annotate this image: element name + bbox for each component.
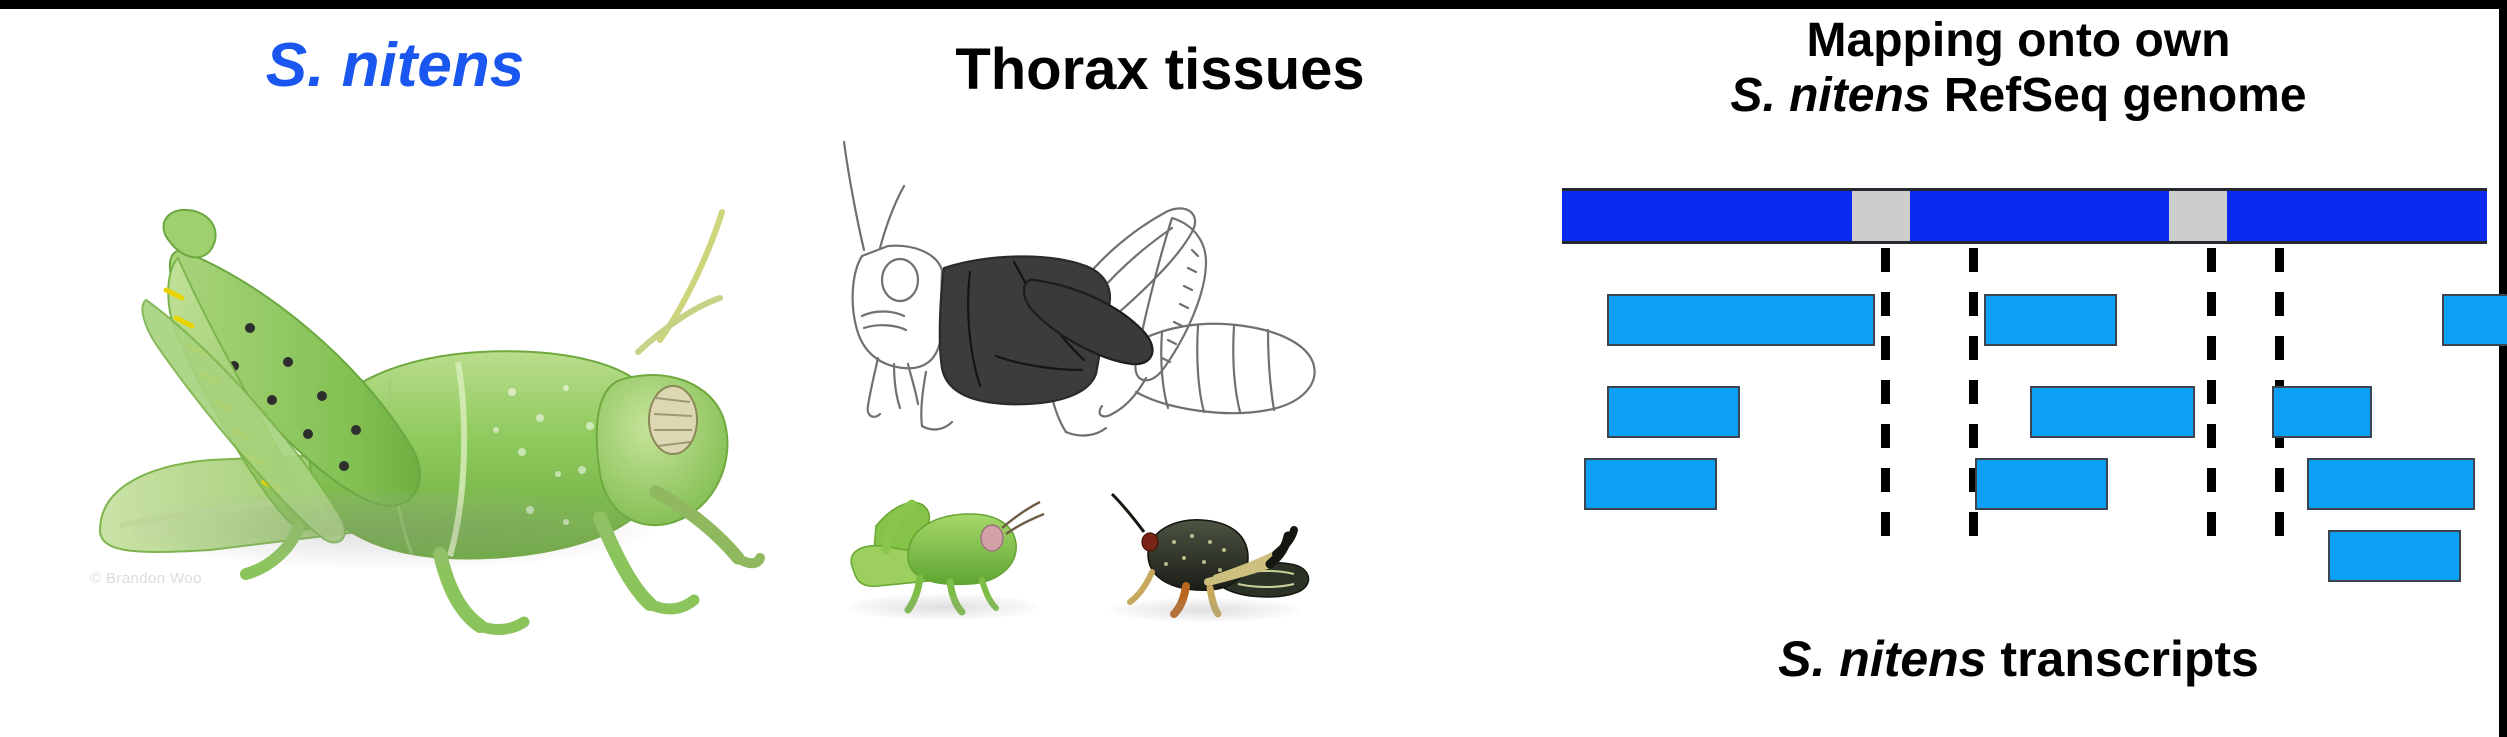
mapping-title: Mapping onto own S. nitens RefSeq genome [1530, 14, 2507, 123]
photo-shadow [130, 490, 650, 568]
tissues-title: Thorax tissues [790, 36, 1530, 103]
panel-thorax-tissues: Thorax tissues [790, 0, 1530, 737]
mapping-title-refseq: RefSeq genome [1944, 69, 2307, 122]
grasshopper-photo: © Brandon Woo [60, 130, 760, 630]
nymph-dark-photo [1090, 478, 1320, 638]
dashed-boundary-line-3 [2207, 248, 2216, 556]
photo-credit-watermark: © Brandon Woo [90, 570, 202, 587]
figure-root: S. nitens [0, 0, 2507, 737]
transcript-box-6 [2030, 386, 2195, 438]
transcript-box-2 [1607, 294, 1875, 346]
panel-mapping: Mapping onto own S. nitens RefSeq genome… [1530, 0, 2507, 737]
species-title: S. nitens [0, 30, 790, 101]
transcript-box-4 [2442, 294, 2507, 346]
transcript-box-10 [2307, 458, 2475, 510]
transcript-box-5 [1607, 386, 1740, 438]
transcripts-caption: S. nitens transcripts [1530, 630, 2507, 688]
genome-segment-gray-2 [1852, 188, 1910, 244]
transcript-box-3 [1984, 294, 2117, 346]
transcripts-caption-rest: transcripts [2000, 631, 2258, 687]
genome-segment-blue-5 [2227, 188, 2487, 244]
mapping-title-species: S. nitens [1730, 69, 1930, 122]
transcript-box-11 [2328, 530, 2461, 582]
genome-segment-blue-3 [1910, 188, 2169, 244]
mapping-title-line1: Mapping onto own [1807, 14, 2231, 67]
nymph-dark-shadow [1110, 598, 1300, 622]
panel-species: S. nitens [0, 0, 790, 737]
genome-reference-track [1562, 188, 2487, 244]
transcript-box-7 [2272, 386, 2372, 438]
transcript-box-9 [1975, 458, 2108, 510]
transcript-box-8 [1584, 458, 1717, 510]
transcripts-caption-species: S. nitens [1778, 631, 1986, 687]
genome-segment-blue-1 [1562, 188, 1852, 244]
grasshopper-line-diagram [800, 120, 1360, 440]
mapping-title-line2: S. nitens RefSeq genome [1530, 69, 2507, 124]
nymph-green-photo [830, 470, 1060, 630]
genome-segment-gray-4 [2169, 188, 2227, 244]
nymph-green-shadow [848, 594, 1038, 620]
dashed-boundary-line-1 [1881, 248, 1890, 556]
